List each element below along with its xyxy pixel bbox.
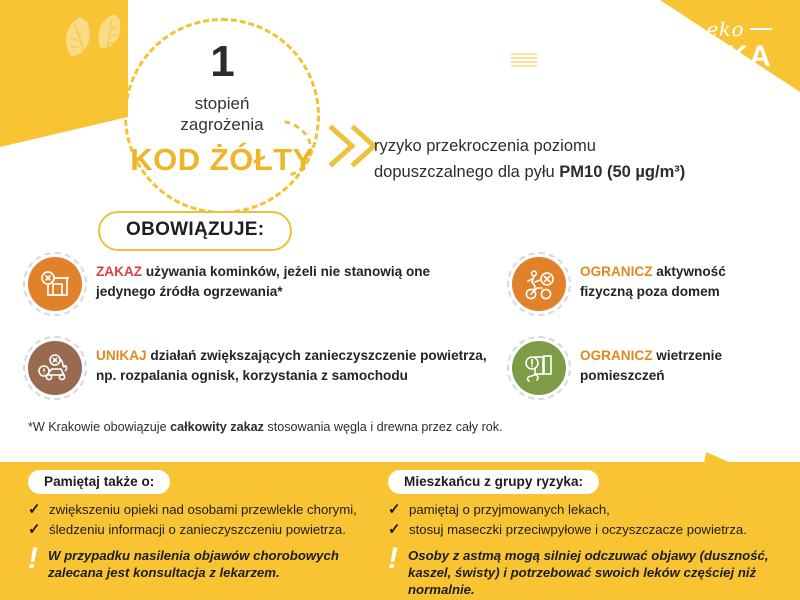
bottom-column-risk-group: Mieszkańcu z grupy ryzyka: ✓ pamiętaj o …: [388, 470, 788, 599]
bottom-right-item-1: pamiętaj o przyjmowanych lekach,: [409, 501, 610, 518]
rule-activity-keyword: OGRANICZ: [580, 264, 653, 279]
rule-airing-keyword: OGRANICZ: [580, 348, 653, 363]
eko-rule-right: [750, 28, 772, 30]
infographic-poster: 1 stopień zagrożenia KOD ŻÓŁTY ryzyko pr…: [0, 0, 800, 600]
rule-fireplace-body: używania kominków, jeżeli nie stanowią o…: [96, 264, 430, 299]
brand-logo: eko MAŁOPOLSKA: [509, 18, 772, 72]
bottom-left-item-1: zwiększeniu opieki nad osobami przewlekl…: [49, 501, 357, 518]
bottom-right-note: ! Osoby z astmą mogą silniej odczuwać ob…: [388, 547, 788, 599]
exclamation-icon: !: [388, 547, 398, 571]
bottom-column-remember: Pamiętaj także o: ✓ zwiększeniu opieki n…: [28, 470, 388, 581]
hero-block: 1 stopień zagrożenia KOD ŻÓŁTY: [124, 40, 320, 178]
rule-activity-text: OGRANICZ aktywność fizyczną poza domem: [580, 257, 782, 301]
footnote-bold: całkowity zakaz: [170, 420, 264, 434]
rule-avoid: UNIKAJ działań zwiększających zanieczysz…: [28, 341, 498, 395]
bottom-left-note-text: W przypadku nasilenia objawów chorobowyc…: [48, 547, 388, 582]
check-icon: ✓: [388, 521, 401, 538]
footnote: *W Krakowie obowiązuje całkowity zakaz s…: [28, 420, 503, 434]
outdoor-activity-prohibited-icon: [512, 257, 566, 311]
rule-fireplace-keyword: ZAKAZ: [96, 264, 142, 279]
risk-line-2-bold: PM10 (50 µg/m³): [559, 163, 685, 181]
bottom-left-item-2: śledzeniu informacji o zanieczyszczeniu …: [49, 521, 346, 538]
leaves-icon: [55, 12, 135, 74]
check-icon: ✓: [28, 521, 41, 538]
level-sub-line1: stopień: [124, 94, 320, 115]
eko-rule-left: [679, 28, 701, 30]
risk-description: ryzyko przekroczenia poziomu dopuszczaln…: [374, 134, 794, 185]
car-bonfire-prohibited-icon: [28, 341, 82, 395]
rule-avoid-body: działań zwiększających zanieczyszczenie …: [96, 348, 487, 383]
bottom-right-item-2: stosuj maseczki przeciwpyłowe i oczyszcz…: [409, 521, 747, 538]
risk-line-2-prefix: dopuszczalnego dla pyłu: [374, 163, 559, 181]
level-sub-line2: zagrożenia: [124, 115, 320, 136]
rule-avoid-keyword: UNIKAJ: [96, 348, 147, 363]
list-item: ✓ pamiętaj o przyjmowanych lekach,: [388, 501, 788, 518]
rule-airing-text: OGRANICZ wietrzenie pomieszczeń: [580, 341, 782, 385]
level-number: 1: [124, 40, 320, 84]
bottom-right-title: Mieszkańcu z grupy ryzyka:: [388, 470, 599, 494]
list-item: ✓ śledzeniu informacji o zanieczyszczeni…: [28, 521, 388, 538]
mountain-logo-icon: [509, 42, 539, 72]
window-airing-warning-icon: [512, 341, 566, 395]
check-icon: ✓: [388, 501, 401, 518]
obowiazuje-badge: OBOWIĄZUJE:: [98, 211, 292, 251]
rule-fireplace-text: ZAKAZ używania kominków, jeżeli nie stan…: [96, 257, 488, 301]
list-item: ✓ stosuj maseczki przeciwpyłowe i oczysz…: [388, 521, 788, 538]
rule-avoid-text: UNIKAJ działań zwiększających zanieczysz…: [96, 341, 498, 385]
bottom-left-title: Pamiętaj także o:: [28, 470, 170, 494]
bottom-right-note-text: Osoby z astmą mogą silniej odczuwać obja…: [408, 547, 788, 599]
rule-activity: OGRANICZ aktywność fizyczną poza domem: [512, 257, 782, 311]
exclamation-icon: !: [28, 547, 38, 571]
code-label: KOD ŻÓŁTY: [124, 142, 320, 178]
list-item: ✓ zwiększeniu opieki nad osobami przewle…: [28, 501, 388, 518]
rule-fireplace: ZAKAZ używania kominków, jeżeli nie stan…: [28, 257, 488, 311]
brand-name: MAŁOPOLSKA: [547, 42, 772, 72]
risk-line-1: ryzyko przekroczenia poziomu: [374, 134, 794, 160]
eko-word: eko: [707, 17, 745, 41]
rule-airing: OGRANICZ wietrzenie pomieszczeń: [512, 341, 782, 395]
fireplace-prohibited-icon: [28, 257, 82, 311]
bottom-left-note: ! W przypadku nasilenia objawów chorobow…: [28, 547, 388, 582]
footnote-prefix: *W Krakowie obowiązuje: [28, 420, 170, 434]
footnote-suffix: stosowania węgla i drewna przez cały rok…: [264, 420, 503, 434]
check-icon: ✓: [28, 501, 41, 518]
